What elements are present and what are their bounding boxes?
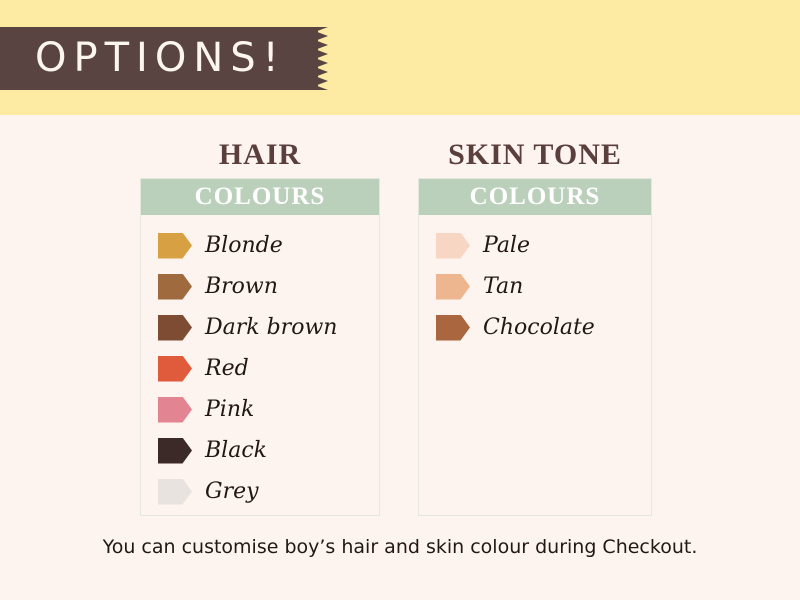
list-item[interactable]: Pale [419,225,651,266]
list-item[interactable]: Grey [141,471,379,512]
colour-label: Pink [205,397,254,422]
colour-label: Black [205,438,267,463]
colour-label: Chocolate [483,315,595,340]
ribbon-zigzag-edge [310,27,328,90]
colour-swatch-icon [158,438,192,464]
list-item[interactable]: Black [141,430,379,471]
colour-swatch-icon [158,397,192,423]
list-item[interactable]: Red [141,348,379,389]
colour-swatch-icon [158,479,192,505]
list-item[interactable]: Dark brown [141,307,379,348]
hair-colours-header: COLOURS [141,179,379,215]
colour-swatch-icon [436,315,470,341]
colour-label: Red [205,356,249,381]
list-item[interactable]: Brown [141,266,379,307]
colour-swatch-icon [436,274,470,300]
colour-label: Blonde [205,233,283,258]
colour-swatch-icon [436,233,470,259]
skin-tone-colours-box: COLOURS Pale Tan Chocolate [418,178,652,516]
colour-swatch-icon [158,356,192,382]
skin-column-heading: SKIN TONE [418,138,652,172]
skin-colours-header: COLOURS [419,179,651,215]
list-item[interactable]: Blonde [141,225,379,266]
hair-column-heading: HAIR [140,138,380,172]
ribbon-title: OPTIONS! [35,27,286,90]
list-item[interactable]: Tan [419,266,651,307]
colour-label: Tan [483,274,523,299]
colour-label: Pale [483,233,530,258]
colour-label: Brown [205,274,278,299]
colour-swatch-icon [158,274,192,300]
hair-colours-box: COLOURS Blonde Brown Dark brown Red Pink [140,178,380,516]
list-item[interactable]: Chocolate [419,307,651,348]
colour-label: Dark brown [205,315,337,340]
skin-colour-list: Pale Tan Chocolate [419,215,651,348]
colour-swatch-icon [158,233,192,259]
colour-label: Grey [205,479,259,504]
hair-colour-list: Blonde Brown Dark brown Red Pink Black [141,215,379,512]
footer-note: You can customise boy’s hair and skin co… [0,536,800,558]
list-item[interactable]: Pink [141,389,379,430]
options-page: OPTIONS! HAIR SKIN TONE COLOURS Blonde B… [0,0,800,600]
colour-swatch-icon [158,315,192,341]
options-ribbon: OPTIONS! [0,27,333,90]
